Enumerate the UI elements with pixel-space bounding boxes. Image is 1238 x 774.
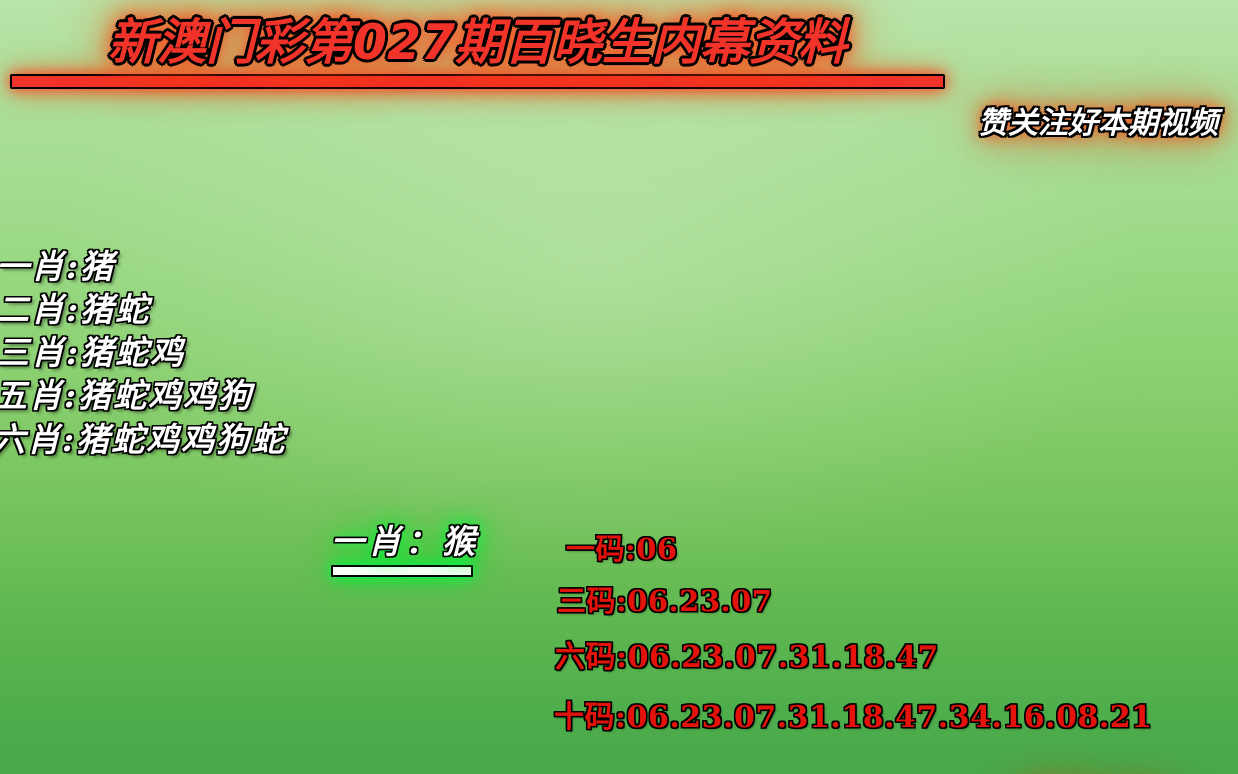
zodiac-list-027: 一肖:猪 二肖:猪蛇 三肖:猪蛇鸡 五肖:猪蛇鸡鸡狗 六肖:猪蛇鸡鸡狗蛇 — [0, 245, 1234, 462]
code-line-ten: 十码:06.23.07.31.18.47.34.16.08.21 — [554, 689, 1238, 747]
zodiac-line: 六肖:猪蛇鸡鸡狗蛇 — [0, 418, 1234, 462]
code-line-one: 一码:06 — [566, 523, 1238, 575]
zodiac-line: 五肖:猪蛇鸡鸡狗 — [0, 374, 1234, 418]
banner-title-027: 新澳门彩第027期百晓生内幕资料 — [10, 14, 945, 72]
promo-text: 赞关注好本期视频 — [978, 105, 1238, 143]
promo-follow-video: 赞关注好本期视频 — [978, 105, 1238, 143]
zodiac-line: 一肖:猪 — [0, 245, 1234, 288]
badge-one-zodiac-label-027: 一肖：猴 — [331, 522, 473, 562]
lottery-poster: 新澳门彩第027期百晓生内幕资料 赞关注好本期视频 一肖:猪 二肖:猪蛇 三肖:… — [0, 0, 1238, 774]
banner-period-027: 新澳门彩第027期百晓生内幕资料 — [10, 14, 945, 89]
code-line-three: 三码:06.23.07 — [557, 575, 1238, 627]
badge-one-zodiac-027: 一肖：猴 — [331, 522, 473, 577]
zodiac-line: 二肖:猪蛇 — [0, 288, 1234, 331]
zodiac-line: 三肖:猪蛇鸡 — [0, 331, 1234, 374]
banner-underline-027 — [10, 74, 945, 89]
code-line-six: 六码:06.23.07.31.18.47 — [555, 627, 1238, 689]
code-list-027: 一码:06 三码:06.23.07 六码:06.23.07.31.18.47 十… — [556, 523, 1238, 747]
badge-underline-027 — [331, 565, 473, 577]
